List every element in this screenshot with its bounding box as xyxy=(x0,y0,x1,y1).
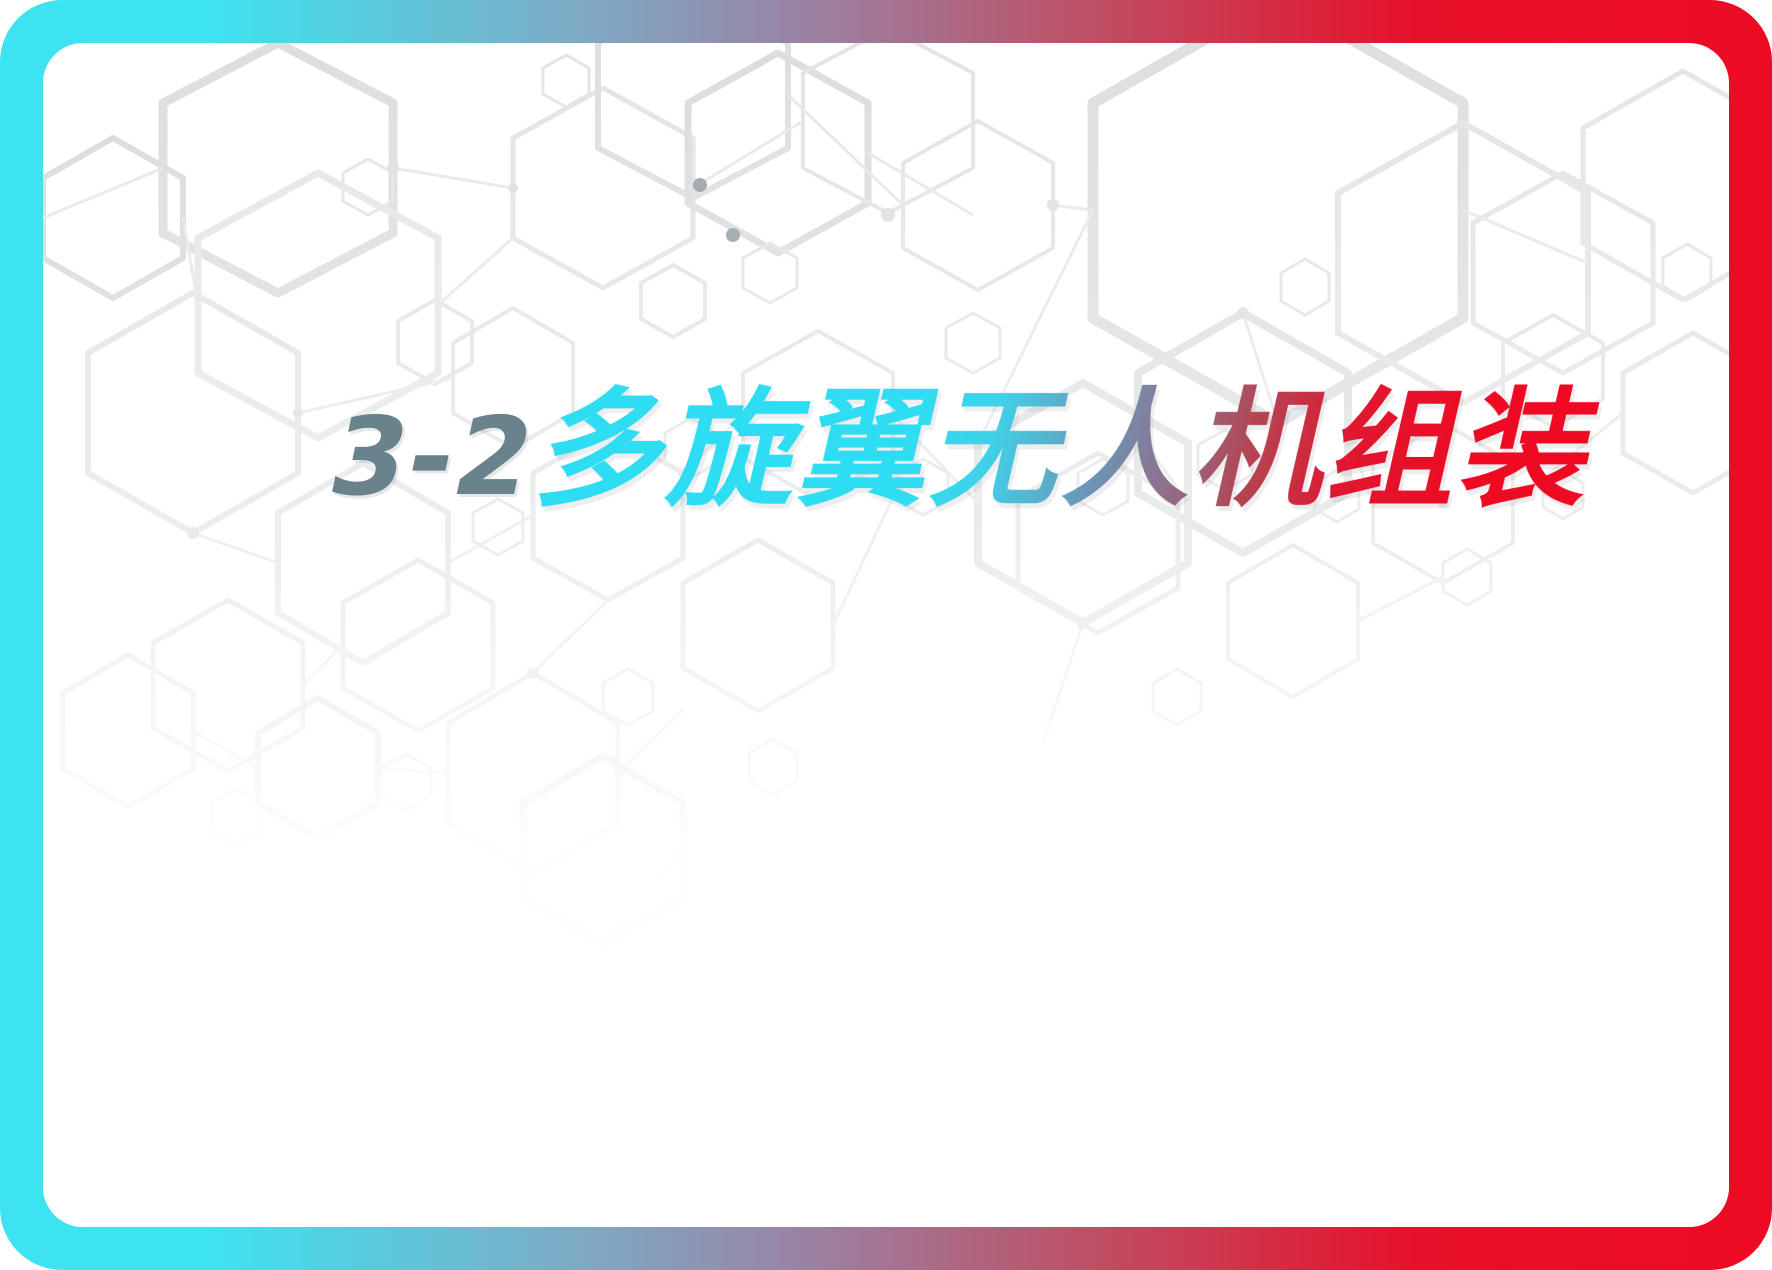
hexagon-network-background-icon xyxy=(43,43,1729,1227)
page-title: 多旋翼无人机组装 xyxy=(526,379,1615,522)
slide-gradient-frame: 3-2 多旋翼无人机组装 xyxy=(0,0,1772,1270)
title-block: 3-2 多旋翼无人机组装 xyxy=(298,363,1598,522)
section-number: 3-2 xyxy=(320,401,545,514)
slide-content-card: 3-2 多旋翼无人机组装 xyxy=(43,43,1729,1227)
